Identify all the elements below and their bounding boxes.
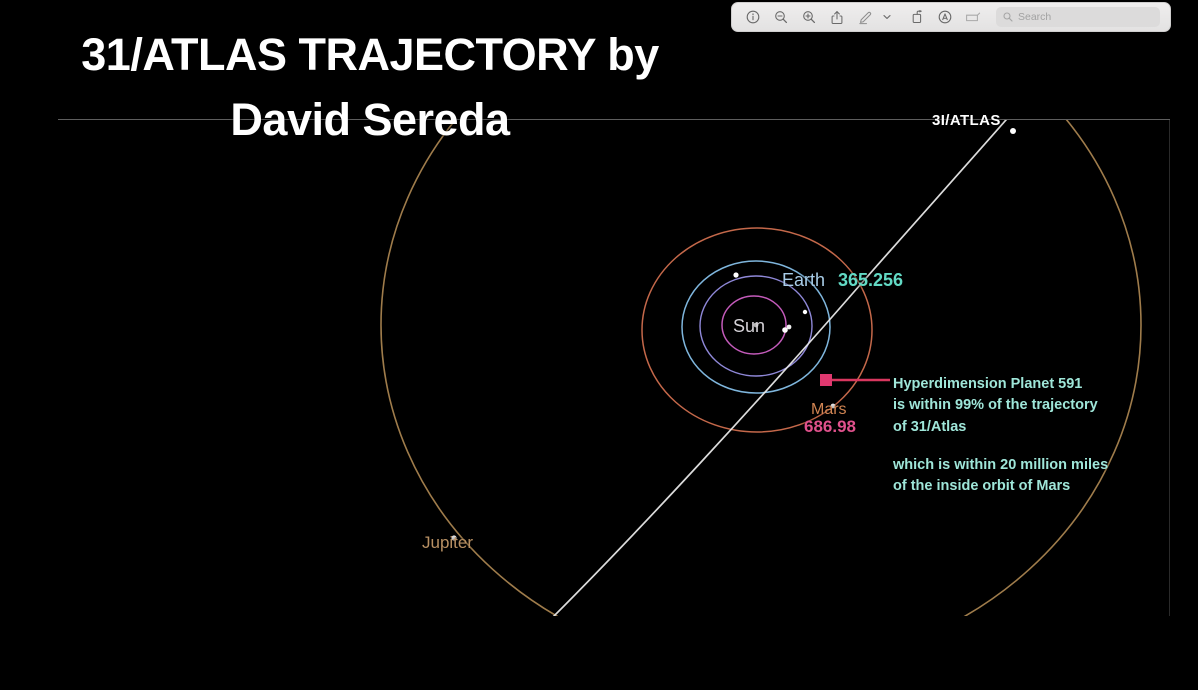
zoom-in-icon[interactable] (796, 6, 822, 28)
annotation-line-1: Hyperdimension Planet 591 (893, 374, 1143, 395)
label-jupiter: Jupiter (422, 533, 473, 553)
annotation-spacer (893, 438, 1143, 455)
annotation-line-3: of 31/Atlas (893, 417, 1143, 438)
trajectory-3i-atlas (553, 31, 1082, 617)
viewer-toolbar: Search (731, 2, 1171, 32)
body-3i-atlas (1010, 128, 1016, 134)
label-3i-atlas: 3I/ATLAS (932, 112, 1001, 129)
share-icon[interactable] (824, 6, 850, 28)
body-earth (733, 272, 738, 277)
annotation-line-5: of the inside orbit of Mars (893, 476, 1143, 497)
label-mars-orbital-period: 686.98 (804, 417, 856, 437)
search-input-placeholder: Search (1018, 11, 1051, 23)
annotation-line-2: is within 99% of the trajectory (893, 395, 1143, 416)
search-icon (1003, 12, 1013, 22)
annotation-text-block: Hyperdimension Planet 591 is within 99% … (893, 374, 1143, 498)
label-earth-orbital-period: 365.256 (838, 270, 903, 291)
search-input[interactable]: Search (996, 7, 1160, 27)
label-sun: Sun (733, 316, 765, 337)
markup-dropdown-chevron-icon[interactable] (880, 6, 894, 28)
info-icon[interactable] (740, 6, 766, 28)
annotation-line-4: which is within 20 million miles (893, 455, 1143, 476)
body-earth-alt (803, 310, 807, 314)
markup-pen-icon[interactable] (852, 6, 878, 28)
body-venus (787, 325, 792, 330)
label-earth: Earth (782, 270, 825, 291)
screenshot-root: Sun Earth 365.256 Mars 686.98 Jupiter 3I… (0, 0, 1198, 690)
rotate-icon[interactable] (904, 6, 930, 28)
zoom-out-icon[interactable] (768, 6, 794, 28)
highlight-icon[interactable] (960, 6, 986, 28)
annotate-circle-a-icon[interactable] (932, 6, 958, 28)
solar-system-diagram (0, 0, 1198, 690)
hyperdimension-planet-marker (820, 374, 832, 386)
